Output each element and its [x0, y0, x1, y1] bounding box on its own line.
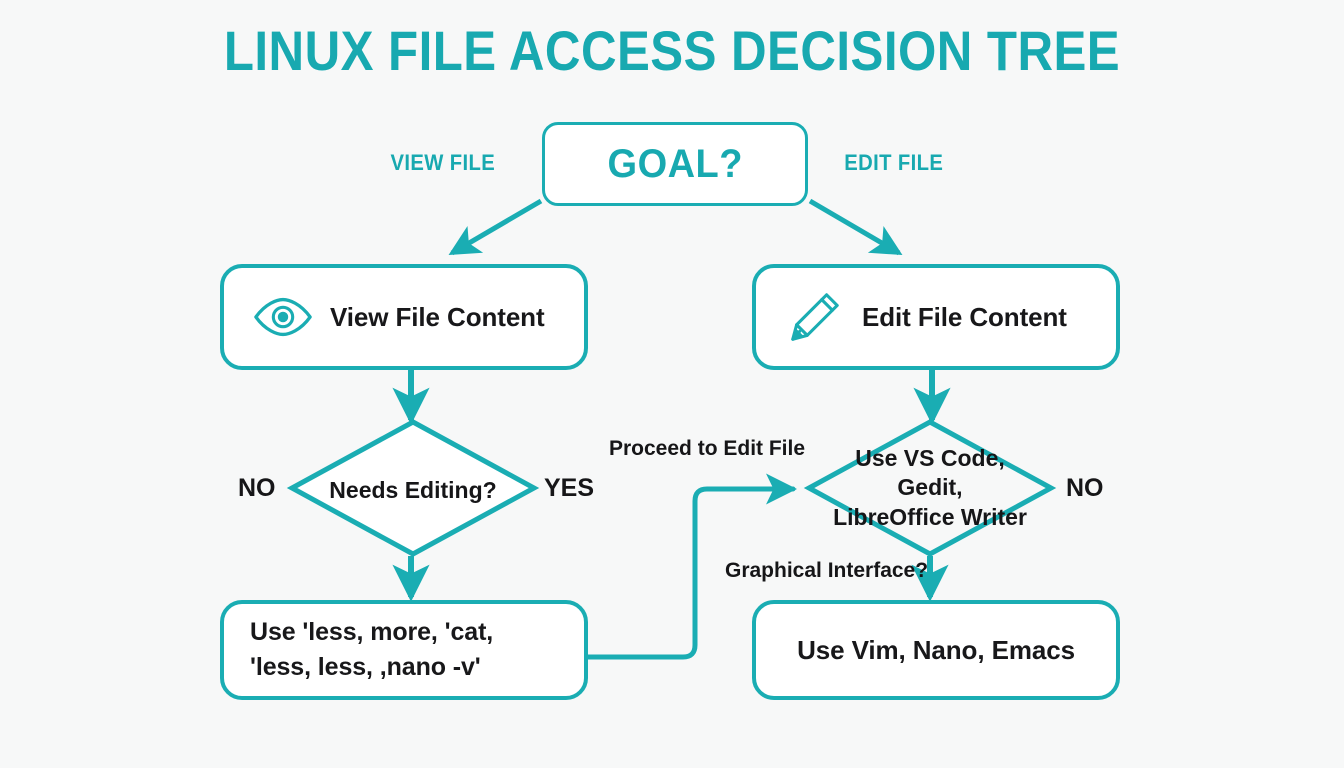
node-view-tools[interactable]: Use 'less, more, 'cat, 'less, less, ,nan…: [220, 600, 588, 700]
node-gui-choice-line-3: LibreOffice Writer: [830, 503, 1030, 532]
edge-label-proceed-to-edit: Proceed to Edit File: [609, 437, 805, 461]
node-goal[interactable]: GOAL?: [542, 122, 808, 206]
node-edit-tools[interactable]: Use Vim, Nano, Emacs: [752, 600, 1120, 700]
node-edit-file-content[interactable]: Edit File Content: [752, 264, 1120, 370]
node-view-file-content-label: View File Content: [330, 302, 545, 333]
edge-label-graphical-interface: Graphical Interface?: [725, 559, 928, 583]
node-gui-choice-line-1: Use VS Code,: [830, 444, 1030, 473]
edge-label-view-file: VIEW FILE: [391, 150, 496, 176]
diagram-canvas: LINUX FILE ACCESS DECISION TREE GOAL? VI…: [0, 0, 1344, 768]
connector-goal-to-view: [452, 201, 541, 253]
eye-icon: [252, 290, 314, 344]
edge-label-gui-choice-no: NO: [1066, 474, 1104, 503]
node-view-tools-label: Use 'less, more, 'cat, 'less, less, ,nan…: [250, 615, 558, 686]
node-gui-choice-label: Use VS Code, Gedit, LibreOffice Writer: [830, 444, 1030, 532]
diagram-connectors: [0, 0, 1344, 768]
node-edit-tools-label: Use Vim, Nano, Emacs: [797, 635, 1075, 666]
node-edit-file-content-label: Edit File Content: [862, 302, 1067, 333]
node-view-file-content[interactable]: View File Content: [220, 264, 588, 370]
node-needs-editing-label: Needs Editing?: [313, 476, 513, 505]
edge-label-needs-editing-no: NO: [238, 474, 276, 503]
edge-label-needs-editing-yes: YES: [544, 474, 594, 503]
pencil-icon: [784, 290, 846, 344]
node-gui-choice-line-2: Gedit,: [830, 473, 1030, 502]
node-goal-label: GOAL?: [607, 142, 742, 187]
connector-goal-to-edit: [810, 201, 899, 253]
edge-label-edit-file: EDIT FILE: [844, 150, 943, 176]
